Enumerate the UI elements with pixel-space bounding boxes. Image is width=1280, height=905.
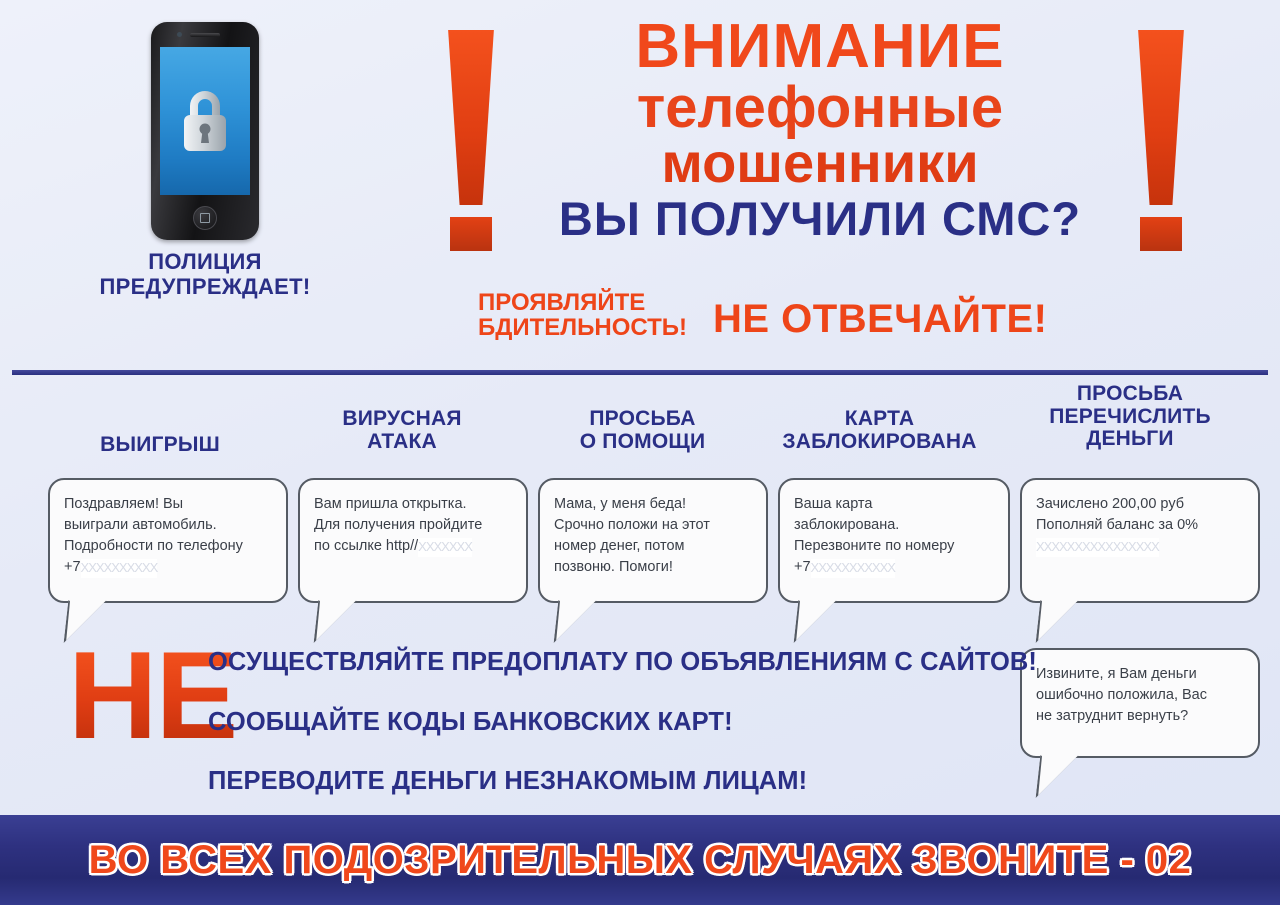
headline-question: ВЫ ПОЛУЧИЛИ СМС? [510, 195, 1130, 242]
sms-line: Извините, я Вам деньги [1036, 664, 1246, 685]
smartphone-lock-icon [151, 22, 259, 240]
sms-line: Мама, у меня беда! [554, 494, 754, 515]
headline-line-2: телефонные [510, 79, 1130, 137]
phone-speaker-icon [190, 33, 220, 37]
sms-line: заблокирована. [794, 515, 996, 536]
category-title-line: АТАКА [292, 431, 512, 454]
bubble-tail [1034, 599, 1114, 643]
category-title-virus: ВИРУСНАЯАТАКА [292, 408, 512, 453]
category-title-help: ПРОСЬБАО ПОМОЩИ [530, 408, 755, 453]
sms-bubble-virus: Вам пришла открытка.Для получения пройди… [298, 478, 528, 603]
sms-line: не затруднит вернуть? [1036, 706, 1246, 727]
redacted-value: XXXXXXXXXXXXXXXX [1036, 538, 1159, 557]
category-title-line: О ПОМОЩИ [530, 431, 755, 454]
poster-canvas: ПОЛИЦИЯ ПРЕДУПРЕЖДАЕТ! ВНИМАНИЕ телефонн… [0, 0, 1280, 905]
sms-line: Для получения пройдите [314, 515, 514, 536]
category-title-line: ДЕНЬГИ [1005, 428, 1255, 451]
do-not-item: ПЕРЕВОДИТЕ ДЕНЬГИ НЕЗНАКОМЫМ ЛИЦАМ! [208, 769, 1028, 795]
bubble-tail [312, 599, 392, 643]
sms-line: номер денег, потом [554, 536, 754, 557]
exclamation-mark-left-icon [440, 30, 502, 251]
sms-line: Вам пришла открытка. [314, 494, 514, 515]
sms-line: ошибочно положила, Вас [1036, 685, 1246, 706]
sms-bubble-help: Мама, у меня беда!Срочно положи на этотн… [538, 478, 768, 603]
headline-line-3: мошенники [510, 135, 1130, 191]
sms-line: Перезвоните по номеру [794, 536, 996, 557]
sms-line: +7XXXXXXXXXX [64, 557, 274, 578]
sms-line: Зачислено 200,00 руб [1036, 494, 1246, 515]
bubble-tail [792, 599, 872, 643]
police-caption-line1: ПОЛИЦИЯ [60, 250, 350, 275]
sms-bubble-win: Поздравляем! Вывыиграли автомобиль.Подро… [48, 478, 288, 603]
vigilance-line2: БДИТЕЛЬНОСТЬ! [478, 315, 687, 340]
sms-line: Поздравляем! Вы [64, 494, 274, 515]
category-title-card-blocked: КАРТАЗАБЛОКИРОВАНА [762, 408, 997, 453]
do-not-item: ОСУЩЕСТВЛЯЙТЕ ПРЕДОПЛАТУ ПО ОБЪЯВЛЕНИЯМ … [208, 650, 1028, 676]
vigilance-text: ПРОЯВЛЯЙТЕ БДИТЕЛЬНОСТЬ! [478, 290, 687, 340]
redacted-value: XXXXXXX [418, 538, 472, 557]
sms-line: Подробности по телефону [64, 536, 274, 557]
section-divider [12, 370, 1268, 375]
sms-line: по ссылке http//XXXXXXX [314, 536, 514, 557]
phone-home-button-icon [193, 206, 217, 230]
redacted-value: XXXXXXXXXXX [811, 559, 895, 578]
category-title-win: ВЫИГРЫШ [45, 434, 275, 457]
sms-line: позвоню. Помоги! [554, 557, 754, 578]
phone-screen [160, 47, 250, 195]
sms-line: +7XXXXXXXXXXX [794, 557, 996, 578]
vigilance-line1: ПРОЯВЛЯЙТЕ [478, 290, 687, 315]
category-title-line: ВЫИГРЫШ [45, 434, 275, 457]
subheading-row: ПРОЯВЛЯЙТЕ БДИТЕЛЬНОСТЬ! НЕ ОТВЕЧАЙТЕ! [478, 290, 1208, 340]
category-title-line: ПЕРЕЧИСЛИТЬ [1005, 406, 1255, 429]
headline-line-1: ВНИМАНИЕ [510, 18, 1130, 77]
sms-line: Ваша карта [794, 494, 996, 515]
do-not-list: ОСУЩЕСТВЛЯЙТЕ ПРЕДОПЛАТУ ПО ОБЪЯВЛЕНИЯМ … [208, 650, 1028, 829]
phone-camera-icon [177, 32, 182, 37]
call-02-banner-text: ВО ВСЕХ ПОДОЗРИТЕЛЬНЫХ СЛУЧАЯХ ЗВОНИТЕ -… [89, 838, 1192, 883]
call-02-banner: ВО ВСЕХ ПОДОЗРИТЕЛЬНЫХ СЛУЧАЯХ ЗВОНИТЕ -… [0, 815, 1280, 905]
category-title-line: ВИРУСНАЯ [292, 408, 512, 431]
bubble-tail [1034, 754, 1114, 798]
headline-block: ВНИМАНИЕ телефонные мошенники ВЫ ПОЛУЧИЛ… [440, 18, 1210, 242]
sms-bubble-wrong-transfer: Извините, я Вам деньгиошибочно положила,… [1020, 648, 1260, 758]
do-not-item: СООБЩАЙТЕ КОДЫ БАНКОВСКИХ КАРТ! [208, 710, 1028, 736]
category-title-line: КАРТА [762, 408, 997, 431]
sms-bubble-card-blocked: Ваша картазаблокирована.Перезвоните по н… [778, 478, 1010, 603]
police-caption: ПОЛИЦИЯ ПРЕДУПРЕЖДАЕТ! [60, 250, 350, 299]
police-caption-line2: ПРЕДУПРЕЖДАЕТ! [60, 275, 350, 300]
bubble-tail [552, 599, 632, 643]
do-not-answer-text: НЕ ОТВЕЧАЙТЕ! [713, 299, 1047, 340]
sms-line: выиграли автомобиль. [64, 515, 274, 536]
category-title-line: ПРОСЬБА [530, 408, 755, 431]
category-title-transfer: ПРОСЬБАПЕРЕЧИСЛИТЬДЕНЬГИ [1005, 383, 1255, 451]
category-title-line: ПРОСЬБА [1005, 383, 1255, 406]
category-title-line: ЗАБЛОКИРОВАНА [762, 431, 997, 454]
police-warning-block: ПОЛИЦИЯ ПРЕДУПРЕЖДАЕТ! [60, 22, 350, 299]
sms-line: XXXXXXXXXXXXXXXX [1036, 536, 1246, 557]
padlock-icon [176, 86, 234, 156]
sms-line: Пополняй баланс за 0% [1036, 515, 1246, 536]
exclamation-mark-right-icon [1130, 30, 1192, 251]
sms-bubble-transfer: Зачислено 200,00 рубПополняй баланс за 0… [1020, 478, 1260, 603]
redacted-value: XXXXXXXXXX [81, 559, 158, 578]
sms-line: Срочно положи на этот [554, 515, 754, 536]
